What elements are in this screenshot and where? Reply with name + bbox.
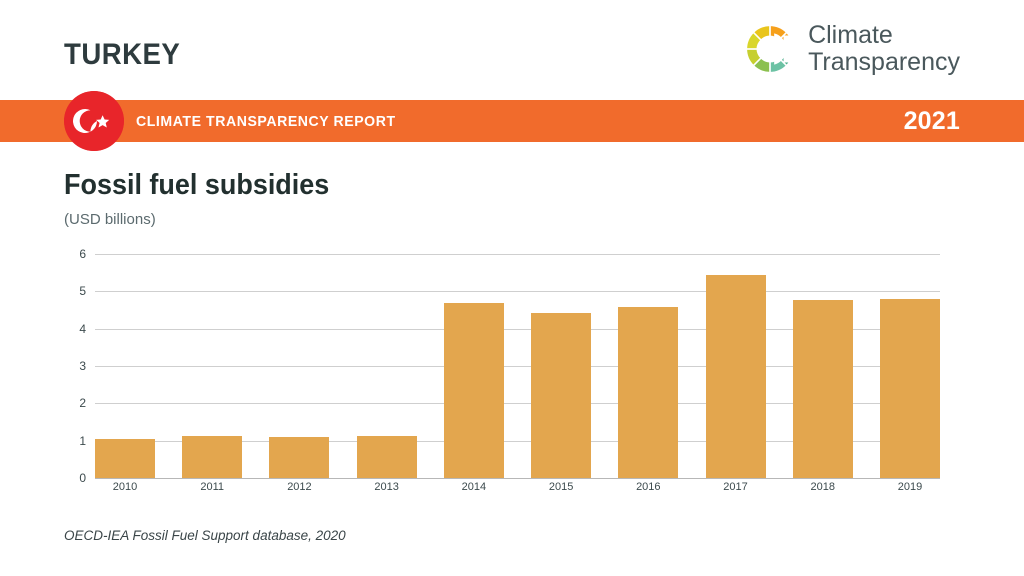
x-axis-label: 2015 — [531, 481, 591, 499]
x-axis-label: 2013 — [357, 481, 417, 499]
bar[interactable] — [880, 299, 940, 478]
bar[interactable] — [793, 300, 853, 478]
report-band: CLIMATE TRANSPARENCY REPORT 2021 — [0, 100, 1024, 142]
bar-column[interactable] — [95, 254, 155, 478]
bar-column[interactable] — [531, 254, 591, 478]
chart-bars — [95, 254, 940, 478]
chart-subtitle: (USD billions) — [64, 211, 156, 228]
brand-line-2: Transparency — [808, 49, 960, 76]
bar[interactable] — [357, 436, 417, 478]
x-axis-label: 2011 — [182, 481, 242, 499]
y-axis-label: 3 — [66, 359, 86, 373]
gridline — [95, 329, 940, 330]
x-axis-label: 2010 — [95, 481, 155, 499]
bar-column[interactable] — [357, 254, 417, 478]
bar[interactable] — [618, 307, 678, 478]
y-axis-label: 5 — [66, 284, 86, 298]
brand-logo: Climate Transparency — [744, 22, 960, 76]
gridline — [95, 403, 940, 404]
bar[interactable] — [182, 436, 242, 478]
gridline — [95, 254, 940, 255]
x-axis-label: 2012 — [269, 481, 329, 499]
gridline — [95, 291, 940, 292]
turkey-flag-icon — [64, 91, 124, 151]
x-axis-label: 2016 — [618, 481, 678, 499]
gridline — [95, 366, 940, 367]
y-axis-label: 6 — [66, 247, 86, 261]
bar[interactable] — [269, 437, 329, 478]
band-label: CLIMATE TRANSPARENCY REPORT — [136, 100, 396, 142]
y-axis-label: 1 — [66, 434, 86, 448]
bar[interactable] — [444, 303, 504, 478]
bar[interactable] — [531, 313, 591, 478]
chart-title: Fossil fuel subsidies — [64, 171, 329, 200]
bar-column[interactable] — [444, 254, 504, 478]
x-axis-label: 2014 — [444, 481, 504, 499]
x-axis-label: 2018 — [793, 481, 853, 499]
x-axis-label: 2019 — [880, 481, 940, 499]
y-axis-label: 4 — [66, 322, 86, 336]
y-axis-label: 2 — [66, 396, 86, 410]
bar-column[interactable] — [706, 254, 766, 478]
page-title: TURKEY — [64, 40, 180, 70]
y-axis-label: 0 — [66, 471, 86, 485]
bar-column[interactable] — [880, 254, 940, 478]
x-axis-label: 2017 — [706, 481, 766, 499]
chart-source: OECD-IEA Fossil Fuel Support database, 2… — [64, 528, 346, 543]
bar-column[interactable] — [269, 254, 329, 478]
bar-column[interactable] — [618, 254, 678, 478]
x-axis-line — [95, 478, 940, 479]
brand-wordmark: Climate Transparency — [808, 22, 960, 76]
band-year: 2021 — [904, 100, 960, 142]
brand-line-1: Climate — [808, 22, 960, 49]
bar-column[interactable] — [793, 254, 853, 478]
page-header: TURKEY Climate Transparency — [0, 0, 1024, 100]
x-axis-ticks: 2010201120122013201420152016201720182019 — [95, 481, 940, 499]
bar[interactable] — [95, 439, 155, 478]
bar[interactable] — [706, 275, 766, 478]
pinwheel-logo-icon — [744, 23, 796, 75]
gridline — [95, 441, 940, 442]
bar-column[interactable] — [182, 254, 242, 478]
